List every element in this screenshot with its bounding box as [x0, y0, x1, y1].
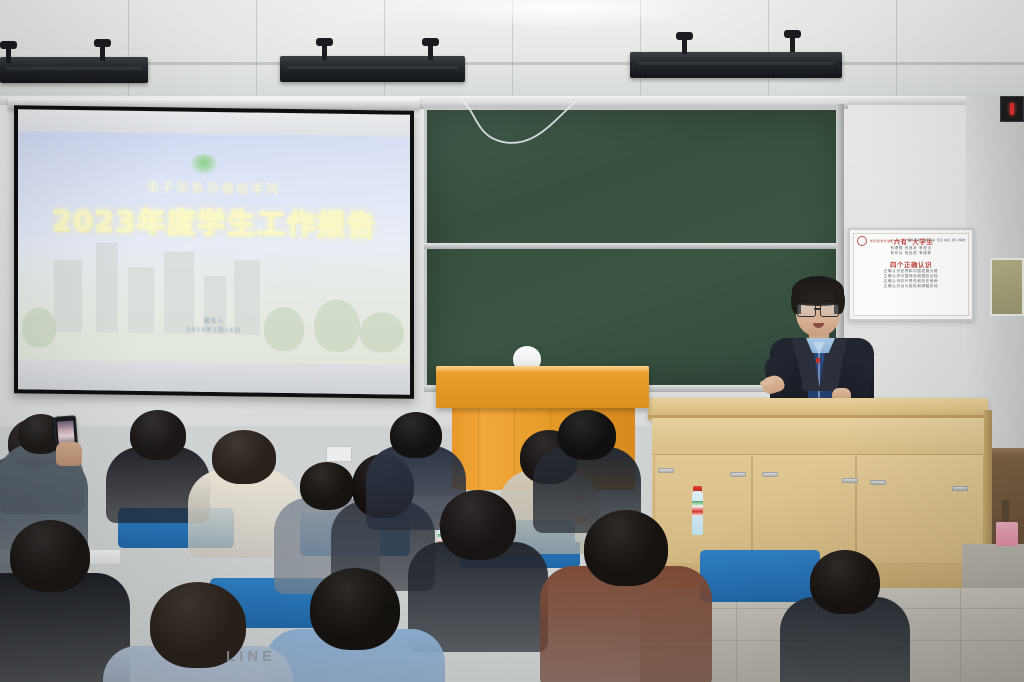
projection-screen[interactable]: 电子信息与通信学院 2023年度学生工作报告 报告人 2024年1月16日 — [14, 105, 414, 399]
attendee-head — [810, 550, 880, 614]
hand-holding-phone — [56, 442, 82, 466]
red-led-icon — [1010, 103, 1014, 115]
glasses-lens-right — [820, 304, 839, 317]
classroom-photo: 电子信息与通信学院 2023年度学生工作报告 报告人 2024年1月16日 学院… — [0, 0, 1024, 682]
olive-notice-board — [990, 258, 1024, 316]
attendee-head — [584, 510, 668, 586]
poster-col-4: 奋斗 精神 — [952, 239, 965, 242]
poster-title-sub: 四个正确认识 — [854, 259, 968, 269]
audience: LINE — [0, 400, 1024, 682]
presentation-slide: 电子信息与通信学院 2023年度学生工作报告 报告人 2024年1月16日 — [18, 131, 410, 364]
attendee-head — [390, 412, 442, 458]
screen-lower-blank — [18, 359, 410, 394]
wall-indicator-display — [1000, 96, 1024, 122]
slide-title: 2023年度学生工作报告 — [18, 197, 410, 244]
red-seal-icon — [857, 236, 867, 246]
slide-subtitle: 电子信息与通信学院 — [18, 176, 410, 198]
poster-col-1: 理想 信念 — [907, 239, 920, 242]
attendee-head — [10, 520, 90, 592]
attendee-head — [558, 410, 616, 460]
poster-col-3: 知识 本领 — [937, 239, 950, 242]
chalkboard-center-rail — [424, 243, 844, 249]
attendee-head — [310, 568, 400, 650]
glasses-bridge — [814, 308, 820, 310]
ceiling — [0, 0, 1024, 100]
attendee-head — [130, 410, 186, 460]
attendee-head — [300, 462, 354, 510]
poster-row-main-2: 有作为 有品质 有修养 — [854, 251, 968, 256]
presenter — [762, 276, 882, 412]
lapel-pin-icon — [816, 358, 820, 363]
glasses-lens-left — [797, 304, 816, 317]
attendee-head — [440, 490, 516, 560]
chair-right — [700, 550, 820, 602]
poster-col-2: 品德 情操 — [922, 239, 935, 242]
slide-campus-photo — [18, 239, 410, 364]
hoodie-print-text: LINE — [226, 648, 276, 665]
university-emblem-icon — [191, 154, 217, 174]
lectern-top-edge — [436, 366, 649, 371]
attendee-head — [212, 430, 276, 484]
poster-header-text: 学院党委学生工作部 — [870, 239, 901, 243]
